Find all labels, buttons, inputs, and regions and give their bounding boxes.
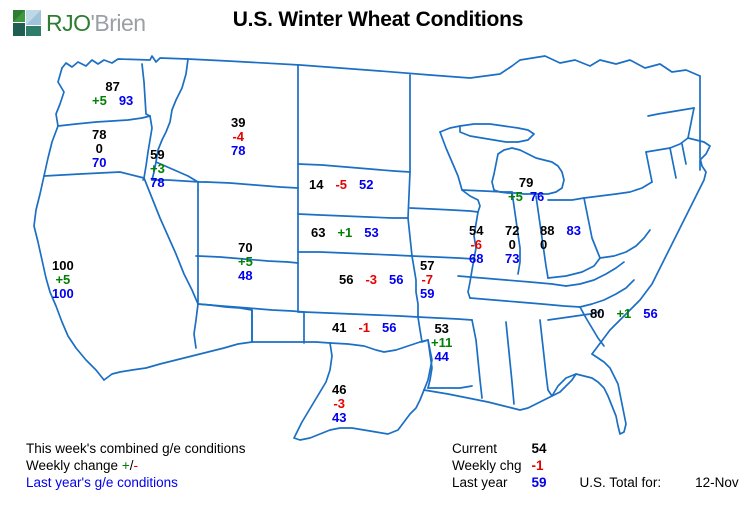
state-weekly-change: +5 xyxy=(238,254,253,269)
state-last-year-value: 100 xyxy=(52,286,74,301)
state-weekly-change: +11 xyxy=(431,335,452,350)
state-last-year-value: 52 xyxy=(359,177,373,192)
state-label-mt: 39-478 xyxy=(231,116,245,158)
state-label-or: 78070 xyxy=(92,128,106,170)
legend-plus-symbol: + xyxy=(122,458,130,473)
state-label-nc: 80+156 xyxy=(590,307,658,321)
state-label-id: 59+378 xyxy=(150,148,165,190)
state-last-year-value: 70 xyxy=(92,155,106,170)
summary-label-cur: Current xyxy=(452,440,532,457)
state-label-wa: 87+593 xyxy=(92,80,133,108)
state-last-year-value: 76 xyxy=(530,189,544,204)
state-label-mi: 79+576 xyxy=(508,176,544,204)
state-last-year-value: 48 xyxy=(238,268,252,283)
state-current-value: 57 xyxy=(420,258,434,273)
state-last-year-value: 44 xyxy=(434,349,448,364)
state-last-year-value: 73 xyxy=(505,251,519,266)
state-label-ok: 41-156 xyxy=(332,321,397,335)
legend-minus-symbol: - xyxy=(133,458,138,473)
state-label-ks: 56-356 xyxy=(339,273,404,287)
state-label-in: 72073 xyxy=(505,224,519,266)
state-label-il: 54-668 xyxy=(469,224,483,266)
state-current-value: 70 xyxy=(238,240,252,255)
us-total-label: U.S. Total for: xyxy=(576,474,662,491)
state-weekly-change: -3 xyxy=(333,396,345,411)
report-date: 12-Nov xyxy=(661,474,739,491)
summary-row: Last year59U.S. Total for:12-Nov xyxy=(452,474,739,491)
state-label-tx: 46-343 xyxy=(332,383,346,425)
state-weekly-change: 0 xyxy=(96,141,103,156)
state-last-year-value: 59 xyxy=(420,286,434,301)
state-current-value: 100 xyxy=(52,258,74,273)
summary-value-ly: 59 xyxy=(532,474,576,491)
state-weekly-change: -7 xyxy=(421,272,433,287)
summary-row: Current54 xyxy=(452,440,739,457)
state-weekly-change: -6 xyxy=(470,237,482,252)
legend: This week's combined g/e conditions Week… xyxy=(26,440,245,491)
state-current-value: 39 xyxy=(231,115,245,130)
state-last-year-value: 68 xyxy=(469,251,483,266)
state-last-year-value: 56 xyxy=(643,306,657,321)
state-current-value: 56 xyxy=(339,272,353,287)
state-weekly-change: 0 xyxy=(540,237,547,252)
state-weekly-change: +1 xyxy=(337,225,352,240)
page-title: U.S. Winter Wheat Conditions xyxy=(0,8,756,32)
state-last-year-value: 53 xyxy=(364,225,378,240)
state-weekly-change: -1 xyxy=(358,320,370,335)
state-label-co: 70+548 xyxy=(238,241,253,283)
state-current-value: 59 xyxy=(150,147,164,162)
state-current-value: 14 xyxy=(309,177,323,192)
state-label-oh: 88830 xyxy=(540,224,581,252)
state-weekly-change: +5 xyxy=(92,93,107,108)
legend-change-prefix: Weekly change xyxy=(26,458,122,473)
state-current-value: 72 xyxy=(505,223,519,238)
summary-table: Current54Weekly chg-1Last year59U.S. Tot… xyxy=(452,440,739,491)
state-label-ca: 100+5100 xyxy=(52,259,74,301)
state-weekly-change: +5 xyxy=(508,189,523,204)
state-current-value: 80 xyxy=(590,306,604,321)
state-last-year-value: 43 xyxy=(332,410,346,425)
state-current-value: 41 xyxy=(332,320,346,335)
state-current-value: 88 xyxy=(540,223,554,238)
state-weekly-change: -5 xyxy=(335,177,347,192)
state-weekly-change: +5 xyxy=(55,272,70,287)
state-last-year-value: 78 xyxy=(231,143,245,158)
legend-change-line: Weekly change +/- xyxy=(26,457,245,474)
state-current-value: 87 xyxy=(105,79,119,94)
summary-label-ly: Last year xyxy=(452,474,532,491)
state-current-value: 46 xyxy=(332,382,346,397)
state-last-year-value: 83 xyxy=(566,223,580,238)
state-last-year-value: 56 xyxy=(382,320,396,335)
state-current-value: 63 xyxy=(311,225,325,240)
summary-block: Current54Weekly chg-1Last year59U.S. Tot… xyxy=(452,440,739,491)
state-current-value: 54 xyxy=(469,223,483,238)
state-current-value: 53 xyxy=(434,321,448,336)
state-weekly-change: -3 xyxy=(365,272,377,287)
summary-value-chg: -1 xyxy=(532,457,576,474)
summary-label-chg: Weekly chg xyxy=(452,457,532,474)
winter-wheat-map-page: RJO'Brien U.S. Winter Wheat Conditions xyxy=(0,0,756,516)
summary-row: Weekly chg-1 xyxy=(452,457,739,474)
state-last-year-value: 93 xyxy=(119,93,133,108)
state-weekly-change: +3 xyxy=(150,161,165,176)
state-label-ne: 63+153 xyxy=(311,226,379,240)
legend-current-line: This week's combined g/e conditions xyxy=(26,440,245,457)
state-current-value: 78 xyxy=(92,127,106,142)
state-label-sd: 14-552 xyxy=(309,178,374,192)
state-last-year-value: 78 xyxy=(150,175,164,190)
state-current-value: 79 xyxy=(519,175,533,190)
state-label-mo: 57-759 xyxy=(420,259,434,301)
summary-value-cur: 54 xyxy=(532,440,576,457)
state-last-year-value: 56 xyxy=(389,272,403,287)
state-weekly-change: -4 xyxy=(232,129,244,144)
state-weekly-change: 0 xyxy=(509,237,516,252)
state-label-ar: 53+1144 xyxy=(431,322,452,364)
legend-last-year-line: Last year's g/e conditions xyxy=(26,474,245,491)
state-weekly-change: +1 xyxy=(616,306,631,321)
